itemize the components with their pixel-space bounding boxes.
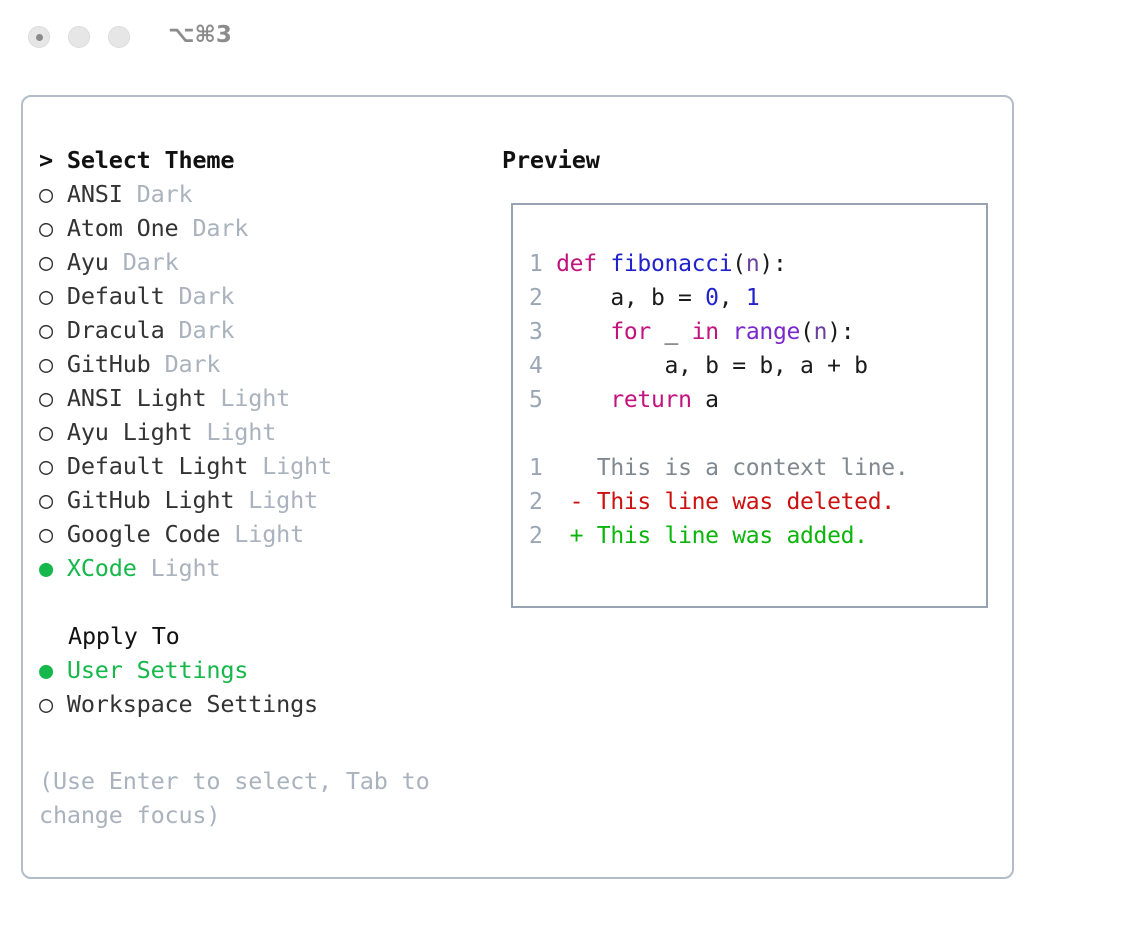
code-token: for [610,319,651,345]
code-token: return [610,387,691,413]
theme-option-xcode[interactable]: ● XCode Light [39,551,499,585]
radio-unselected-icon: ○ [39,214,53,242]
theme-option-label: GitHub [67,350,151,378]
main-panel: > Select Theme ○ ANSI Dark○ Atom One Dar… [21,95,1014,879]
theme-option-ayu[interactable]: ○ Ayu Dark [39,245,499,279]
syntax-sample-lines: 1 def fibonacci(n):2 a, b = 0, 13 for _ … [529,247,978,417]
diff-marker: + [570,523,584,549]
theme-option-label: XCode [67,554,137,582]
code-token: a, b = [556,285,705,311]
diff-marker: - [570,489,584,515]
theme-selector-column: > Select Theme ○ ANSI Dark○ Atom One Dar… [39,143,499,721]
radio-unselected-icon: ○ [39,418,53,446]
apply-to-option-list: ● User Settings○ Workspace Settings [39,653,499,721]
keyboard-hint-text: (Use Enter to select, Tab to change focu… [39,764,449,832]
diff-line-number: 2 [529,489,543,515]
code-line-number: 1 [529,251,543,277]
title-bar: ⌥⌘3 [0,0,1140,78]
diff-line-text: This line was deleted. [583,489,895,515]
theme-option-variant-tag: Dark [137,180,193,208]
code-line-number: 3 [529,319,543,345]
diff-line-add: 2 + This line was added. [529,519,978,553]
code-token [719,319,733,345]
radio-unselected-icon: ○ [39,486,53,514]
theme-option-default[interactable]: ○ Default Dark [39,279,499,313]
preview-title: Preview [502,143,1002,177]
section-spacer [39,585,499,619]
radio-unselected-icon: ○ [39,350,53,378]
diff-line-del: 2 - This line was deleted. [529,485,978,519]
theme-option-variant-tag: Light [248,486,318,514]
theme-option-label: Google Code [67,520,220,548]
diff-line-number: 1 [529,455,543,481]
radio-unselected-icon: ○ [39,248,53,276]
theme-option-github-light[interactable]: ○ GitHub Light Light [39,483,499,517]
theme-option-variant-tag: Light [262,452,332,480]
code-line: 2 a, b = 0, 1 [529,281,978,315]
close-button[interactable] [28,26,50,48]
code-token: ( [732,251,746,277]
code-preview-content: 1 def fibonacci(n):2 a, b = 0, 13 for _ … [529,247,978,553]
code-token: _ [651,319,692,345]
apply-to-option-user-settings[interactable]: ● User Settings [39,653,499,687]
radio-unselected-icon: ○ [39,316,53,344]
code-token: in [692,319,719,345]
code-token: ( [800,319,814,345]
diff-line-text: This line was added. [583,523,868,549]
radio-unselected-icon: ○ [39,282,53,310]
code-token [556,387,610,413]
diff-sample-lines: 1 This is a context line.2 - This line w… [529,451,978,553]
code-line: 3 for _ in range(n): [529,315,978,349]
theme-option-label: Atom One [67,214,179,242]
theme-option-atom-one[interactable]: ○ Atom One Dark [39,211,499,245]
theme-option-label: ANSI Light [67,384,206,412]
diff-line-ctx: 1 This is a context line. [529,451,978,485]
code-token: ): [827,319,854,345]
theme-option-ansi-light[interactable]: ○ ANSI Light Light [39,381,499,415]
theme-option-google-code[interactable]: ○ Google Code Light [39,517,499,551]
code-token: fibonacci [610,251,732,277]
diff-line-text: This is a context line. [583,455,908,481]
radio-selected-icon: ● [39,554,53,582]
apply-to-option-workspace-settings[interactable]: ○ Workspace Settings [39,687,499,721]
code-line: 1 def fibonacci(n): [529,247,978,281]
theme-option-variant-tag: Light [220,384,290,412]
code-token: 0 [705,285,719,311]
code-line: 4 a, b = b, a + b [529,349,978,383]
preview-column: Preview [502,143,1002,177]
code-line-number: 4 [529,353,543,379]
app-window: ⌥⌘3 > Select Theme ○ ANSI Dark○ Atom One… [0,0,1140,934]
code-token: n [814,319,828,345]
radio-selected-icon: ● [39,656,53,684]
minimize-button[interactable] [68,26,90,48]
apply-to-option-label: User Settings [67,656,248,684]
theme-option-ansi[interactable]: ○ ANSI Dark [39,177,499,211]
theme-option-ayu-light[interactable]: ○ Ayu Light Light [39,415,499,449]
radio-unselected-icon: ○ [39,690,53,718]
apply-to-header: Apply To [39,619,499,653]
traffic-light-group [28,26,130,48]
apply-to-option-label: Workspace Settings [67,690,318,718]
code-gap [529,417,978,451]
code-token [556,319,610,345]
theme-option-label: Default Light [67,452,248,480]
diff-marker [570,455,584,481]
theme-option-variant-tag: Dark [123,248,179,276]
code-token: def [556,251,610,277]
theme-option-label: Dracula [67,316,165,344]
code-line: 5 return a [529,383,978,417]
radio-unselected-icon: ○ [39,384,53,412]
code-token: , [719,285,746,311]
diff-line-number: 2 [529,523,543,549]
theme-option-github[interactable]: ○ GitHub Dark [39,347,499,381]
theme-option-variant-tag: Light [151,554,221,582]
theme-option-label: Ayu Light [67,418,193,446]
theme-option-default-light[interactable]: ○ Default Light Light [39,449,499,483]
theme-option-variant-tag: Dark [179,282,235,310]
radio-unselected-icon: ○ [39,452,53,480]
theme-option-label: ANSI [67,180,123,208]
theme-option-list: ○ ANSI Dark○ Atom One Dark○ Ayu Dark○ De… [39,177,499,585]
theme-option-variant-tag: Dark [179,316,235,344]
code-preview-box: 1 def fibonacci(n):2 a, b = 0, 13 for _ … [511,203,988,608]
code-token: 1 [746,285,760,311]
code-token: a, b = b, a + b [556,353,868,379]
theme-option-variant-tag: Dark [165,350,221,378]
theme-option-label: Default [67,282,165,310]
theme-option-label: GitHub Light [67,486,234,514]
theme-option-variant-tag: Dark [192,214,248,242]
code-token: a [692,387,719,413]
theme-option-variant-tag: Light [206,418,276,446]
window-title: ⌥⌘3 [168,22,232,48]
theme-option-label: Ayu [67,248,109,276]
radio-unselected-icon: ○ [39,520,53,548]
theme-option-dracula[interactable]: ○ Dracula Dark [39,313,499,347]
radio-unselected-icon: ○ [39,180,53,208]
maximize-button[interactable] [108,26,130,48]
theme-option-variant-tag: Light [234,520,304,548]
select-theme-header: > Select Theme [39,143,499,177]
code-token: ): [759,251,786,277]
code-token: n [746,251,760,277]
code-line-number: 2 [529,285,543,311]
code-token: range [732,319,800,345]
code-line-number: 5 [529,387,543,413]
